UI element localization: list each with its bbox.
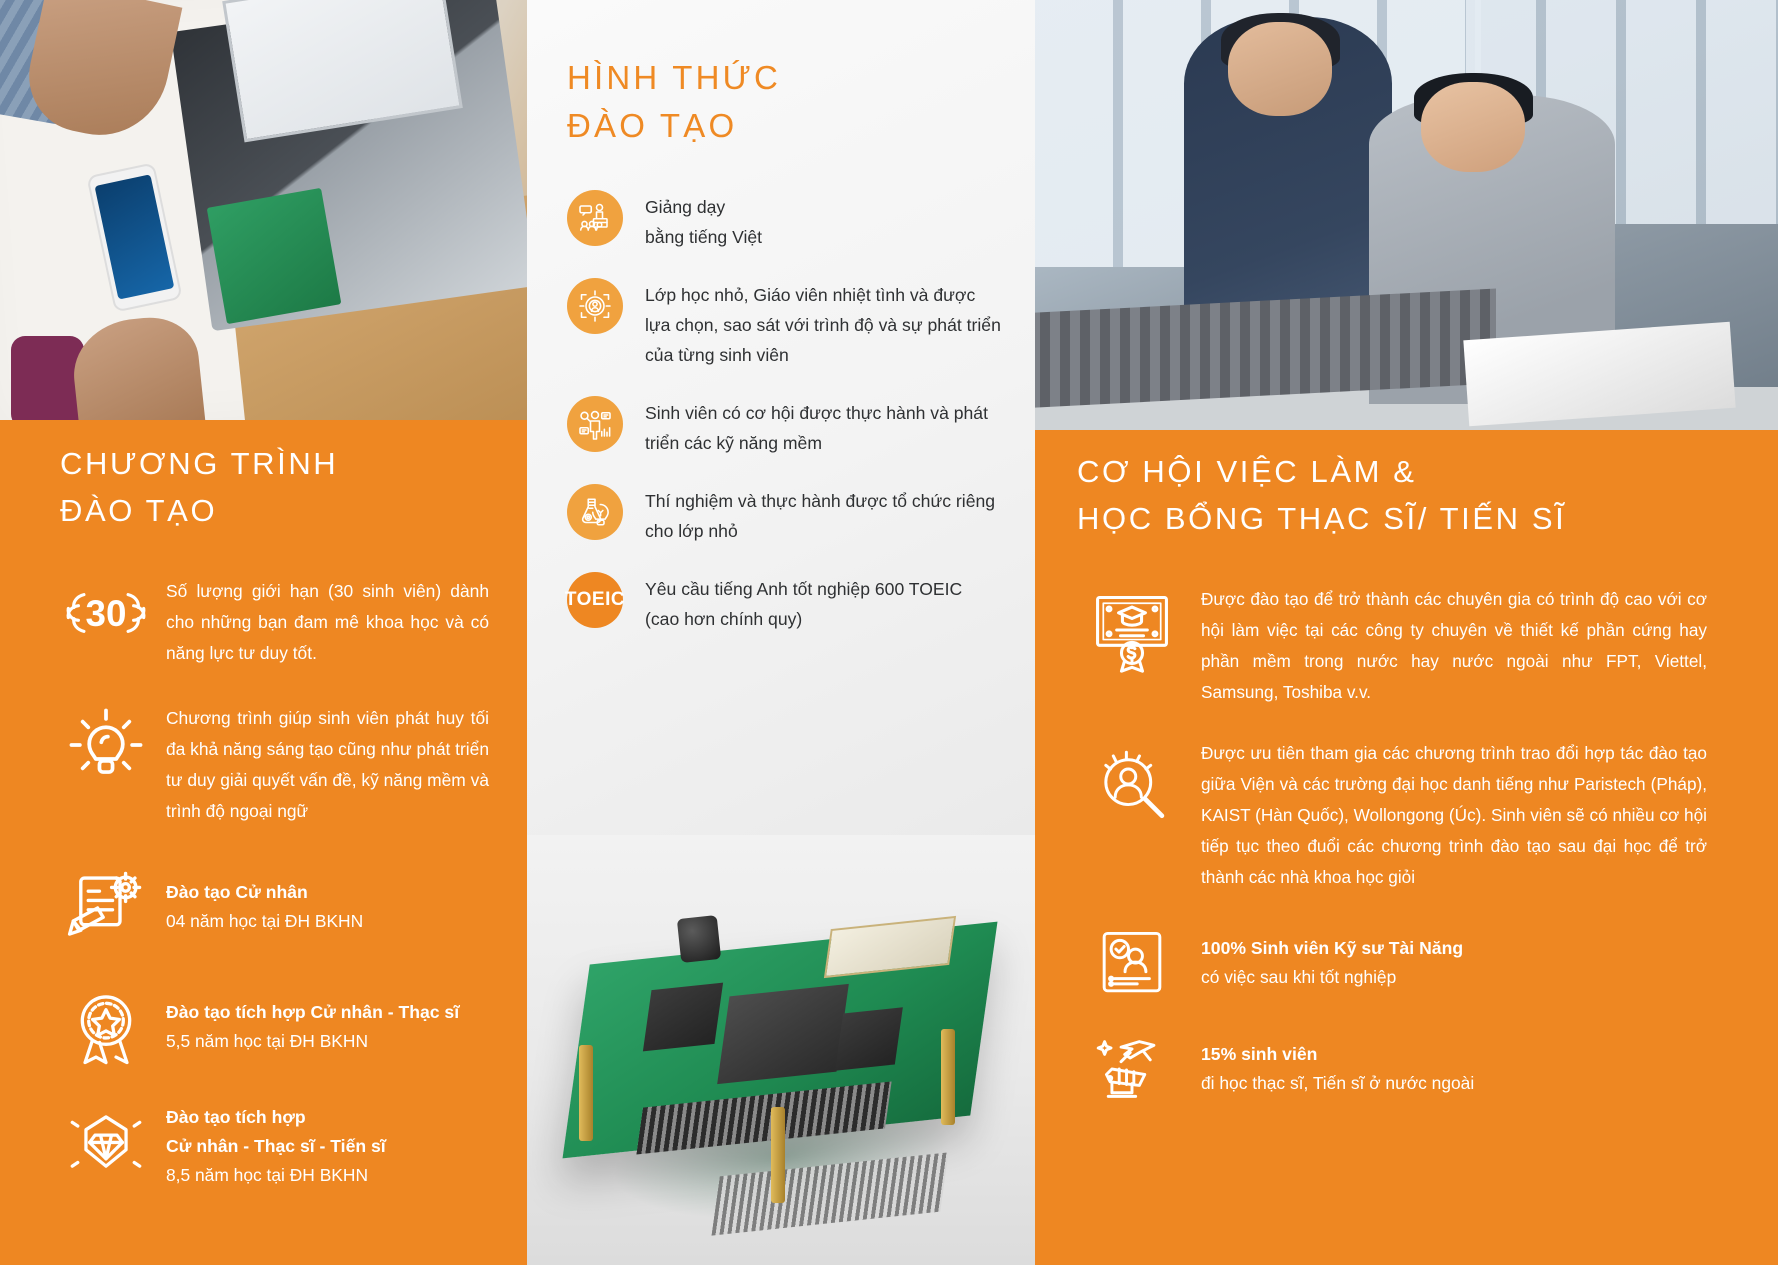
left-item-4-title: Đào tạo tích hợp Cử nhân - Thạc sĩ <box>166 998 489 1027</box>
mid-item-2-line2: lựa chọn, sao sát với trình độ và sự phá… <box>645 310 1007 340</box>
skills-analytics-person-icon <box>567 396 623 452</box>
mid-item-2-line1: Lớp học nhỏ, Giáo viên nhiệt tình và đượ… <box>645 280 1007 310</box>
left-title-line1: CHƯƠNG TRÌNH <box>60 440 489 487</box>
left-item-5-sub: 8,5 năm học tại ĐH BKHN <box>166 1161 489 1190</box>
svg-text:30: 30 <box>86 593 127 634</box>
medal-star-icon <box>60 985 152 1069</box>
mid-item-2-line3: của từng sinh viên <box>645 340 1007 370</box>
left-panel-title: CHƯƠNG TRÌNH ĐÀO TẠO <box>60 440 489 534</box>
mid-item-4-text: Thí nghiệm và thực hành được tổ chức riê… <box>645 484 1007 546</box>
mid-item-teaching-language: Giảng dạy bằng tiếng Việt <box>567 190 1007 252</box>
left-item-bachelor: Đào tạo Cử nhân 04 năm học tại ĐH BKHN <box>60 865 489 949</box>
left-item-2-body: Chương trình giúp sinh viên phát huy tối… <box>166 703 489 827</box>
verified-profile-icon <box>1077 923 1187 1003</box>
left-item-integrated-master: Đào tạo tích hợp Cử nhân - Thạc sĩ 5,5 n… <box>60 985 489 1069</box>
left-item-3-title: Đào tạo Cử nhân <box>166 878 489 907</box>
left-title-line2: ĐÀO TẠO <box>60 487 489 534</box>
left-item-limited-intake: 30 Số lượng giới hạn (30 sinh viên) dành… <box>60 576 489 669</box>
mid-item-lab-practice: Thí nghiệm và thực hành được tổ chức riê… <box>567 484 1007 546</box>
middle-column: HÌNH THỨC ĐÀO TẠO <box>527 0 1035 1265</box>
mid-feature-list: Giảng dạy bằng tiếng Việt <box>567 190 1007 660</box>
mid-item-soft-skills: Sinh viên có cơ hội được thực hành và ph… <box>567 396 1007 458</box>
diamond-badge-icon <box>60 1105 152 1189</box>
diploma-certificate-icon <box>60 865 152 949</box>
mid-panel-title: HÌNH THỨC ĐÀO TẠO <box>567 54 781 150</box>
left-item-3-text: Đào tạo Cử nhân 04 năm học tại ĐH BKHN <box>166 878 489 936</box>
right-column: CƠ HỘI VIỆC LÀM & HỌC BỔNG THẠC SĨ/ TIẾN… <box>1035 0 1778 1265</box>
right-item-2-body: Được ưu tiên tham gia các chương trình t… <box>1201 738 1707 893</box>
left-item-creativity: Chương trình giúp sinh viên phát huy tối… <box>60 703 489 827</box>
left-column: CHƯƠNG TRÌNH ĐÀO TẠO 30 Số lượng giới hạ… <box>0 0 527 1265</box>
right-item-exchange: Được ưu tiên tham gia các chương trình t… <box>1077 738 1720 893</box>
right-item-4-title: 15% sinh viên <box>1201 1040 1707 1069</box>
photo-students-studying <box>1035 0 1778 430</box>
mid-item-2-text: Lớp học nhỏ, Giáo viên nhiệt tình và đượ… <box>645 278 1007 370</box>
right-title-line2: HỌC BỔNG THẠC SĨ/ TIẾN SĨ <box>1077 495 1720 542</box>
mid-item-toeic-requirement: TOEIC Yêu cầu tiếng Anh tốt nghiệp 600 T… <box>567 572 1007 634</box>
right-item-3-text: 100% Sinh viên Kỹ sư Tài Năng có việc sa… <box>1201 934 1707 992</box>
right-item-4-sub: đi học thạc sĩ, Tiến sĩ ở nước ngoài <box>1201 1069 1707 1098</box>
mid-item-3-line1: Sinh viên có cơ hội được thực hành và ph… <box>645 398 1007 428</box>
lightbulb-idea-icon <box>60 703 152 787</box>
mid-item-small-class: Lớp học nhỏ, Giáo viên nhiệt tình và đượ… <box>567 278 1007 370</box>
mid-title-line2: ĐÀO TẠO <box>567 102 781 150</box>
brochure-page: CHƯƠNG TRÌNH ĐÀO TẠO 30 Số lượng giới hạ… <box>0 0 1778 1265</box>
right-item-3-title: 100% Sinh viên Kỹ sư Tài Năng <box>1201 934 1707 963</box>
left-item-integrated-phd: Đào tạo tích hợp Cử nhân - Thạc sĩ - Tiế… <box>60 1103 489 1190</box>
flask-bulb-lab-icon <box>567 484 623 540</box>
right-item-study-abroad: 15% sinh viên đi học thạc sĩ, Tiến sĩ ở … <box>1077 1029 1720 1109</box>
left-item-5-text: Đào tạo tích hợp Cử nhân - Thạc sĩ - Tiế… <box>166 1103 489 1190</box>
toeic-badge-icon: TOEIC <box>567 572 623 628</box>
mid-item-5-text: Yêu cầu tiếng Anh tốt nghiệp 600 TOEIC (… <box>645 572 1007 634</box>
right-title-line1: CƠ HỘI VIỆC LÀM & <box>1077 448 1720 495</box>
certificate-scholarship-icon <box>1077 584 1187 676</box>
right-item-1-body: Được đào tạo để trở thành các chuyên gia… <box>1201 584 1707 708</box>
right-panel-body: CƠ HỘI VIỆC LÀM & HỌC BỔNG THẠC SĨ/ TIẾN… <box>1035 448 1778 1109</box>
mid-item-4-line2: cho lớp nhỏ <box>645 516 1007 546</box>
toeic-badge-label: TOEIC <box>565 589 625 611</box>
mid-item-5-line2: (cao hơn chính quy) <box>645 604 1007 634</box>
right-item-3-sub: có việc sau khi tốt nghiệp <box>1201 963 1707 992</box>
photo-engineering-desk <box>0 0 527 420</box>
left-item-4-sub: 5,5 năm học tại ĐH BKHN <box>166 1027 489 1056</box>
mid-title-line1: HÌNH THỨC <box>567 54 781 102</box>
left-panel-body: CHƯƠNG TRÌNH ĐÀO TẠO 30 Số lượng giới hạ… <box>0 440 527 1190</box>
left-item-5-title-line2: Cử nhân - Thạc sĩ - Tiến sĩ <box>166 1132 489 1161</box>
right-panel-title: CƠ HỘI VIỆC LÀM & HỌC BỔNG THẠC SĨ/ TIẾN… <box>1077 448 1720 542</box>
left-item-1-body: Số lượng giới hạn (30 sinh viên) dành ch… <box>166 576 489 669</box>
mid-item-4-line1: Thí nghiệm và thực hành được tổ chức riê… <box>645 486 1007 516</box>
right-item-4-text: 15% sinh viên đi học thạc sĩ, Tiến sĩ ở … <box>1201 1040 1707 1098</box>
plane-telescope-icon <box>1077 1029 1187 1109</box>
mid-item-1-line1: Giảng dạy <box>645 192 1007 222</box>
right-item-career: Được đào tạo để trở thành các chuyên gia… <box>1077 584 1720 708</box>
mid-item-3-line2: triển các kỹ năng mềm <box>645 428 1007 458</box>
mid-item-3-text: Sinh viên có cơ hội được thực hành và ph… <box>645 396 1007 458</box>
photo-circuit-board <box>527 835 1035 1265</box>
target-person-icon <box>567 278 623 334</box>
lecture-presentation-icon <box>567 190 623 246</box>
right-item-employment-rate: 100% Sinh viên Kỹ sư Tài Năng có việc sa… <box>1077 923 1720 1003</box>
left-item-3-sub: 04 năm học tại ĐH BKHN <box>166 907 489 936</box>
mid-item-1-text: Giảng dạy bằng tiếng Việt <box>645 190 1007 252</box>
laurel-30-icon: 30 <box>60 576 152 650</box>
left-item-4-text: Đào tạo tích hợp Cử nhân - Thạc sĩ 5,5 n… <box>166 998 489 1056</box>
mid-item-5-line1: Yêu cầu tiếng Anh tốt nghiệp 600 TOEIC <box>645 574 1007 604</box>
left-item-5-title-line1: Đào tạo tích hợp <box>166 1103 489 1132</box>
mid-item-1-line2: bằng tiếng Việt <box>645 222 1007 252</box>
global-exchange-person-icon <box>1077 738 1187 830</box>
